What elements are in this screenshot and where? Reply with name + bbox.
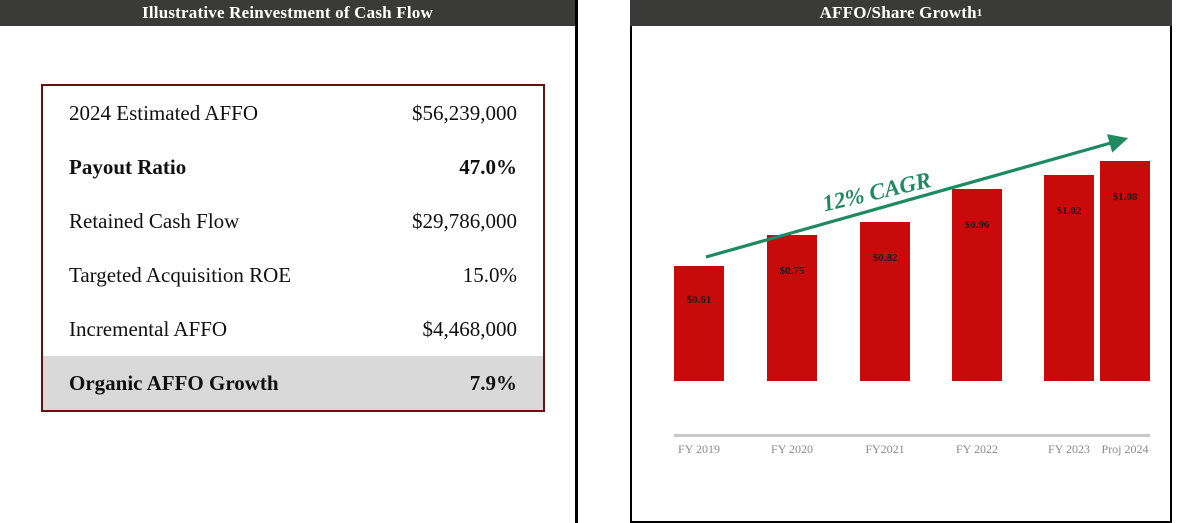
row-value: 47.0% [459, 155, 517, 180]
row-value: $29,786,000 [412, 209, 517, 234]
table-row: Retained Cash Flow $29,786,000 [43, 194, 543, 248]
affo-growth-panel: AFFO/Share Growth1 $0.61 $0.75 $0.82 $0.… [630, 0, 1172, 523]
reinvestment-panel: Illustrative Reinvestment of Cash Flow 2… [0, 0, 578, 523]
table-row: Incremental AFFO $4,468,000 [43, 302, 543, 356]
table-row-total: Organic AFFO Growth 7.9% [43, 356, 543, 410]
row-label: Payout Ratio [69, 155, 186, 180]
chart-plot-area: $0.61 $0.75 $0.82 $0.96 $1.02 $1.08 FY 2… [652, 26, 1152, 466]
affo-bar-chart: $0.61 $0.75 $0.82 $0.96 $1.02 $1.08 FY 2… [632, 26, 1170, 521]
table-row: Payout Ratio 47.0% [43, 140, 543, 194]
cagr-trend-arrow [652, 26, 1152, 466]
table-row: Targeted Acquisition ROE 15.0% [43, 248, 543, 302]
row-label: Retained Cash Flow [69, 209, 239, 234]
affo-growth-panel-header: AFFO/Share Growth1 [630, 0, 1172, 26]
row-value: $56,239,000 [412, 101, 517, 126]
row-value: 7.9% [470, 371, 517, 396]
reinvestment-table: 2024 Estimated AFFO $56,239,000 Payout R… [41, 84, 545, 412]
reinvestment-panel-title: Illustrative Reinvestment of Cash Flow [142, 3, 433, 23]
row-value: 15.0% [463, 263, 517, 288]
row-value: $4,468,000 [423, 317, 518, 342]
row-label: 2024 Estimated AFFO [69, 101, 258, 126]
table-row: 2024 Estimated AFFO $56,239,000 [43, 86, 543, 140]
row-label: Targeted Acquisition ROE [69, 263, 291, 288]
affo-growth-panel-title: AFFO/Share Growth [820, 3, 977, 23]
row-label: Organic AFFO Growth [69, 371, 279, 396]
reinvestment-panel-header: Illustrative Reinvestment of Cash Flow [0, 0, 575, 26]
row-label: Incremental AFFO [69, 317, 227, 342]
